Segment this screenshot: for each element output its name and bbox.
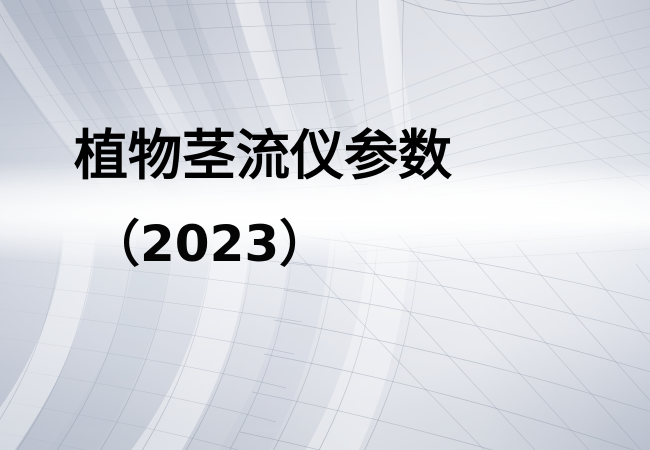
- slide-title-primary: 植物茎流仪参数: [74, 129, 452, 183]
- title-block: 植物茎流仪参数 （2023）: [0, 0, 650, 450]
- slide-title-year: （2023）: [90, 219, 329, 269]
- title-slide: 植物茎流仪参数 （2023）: [0, 0, 650, 450]
